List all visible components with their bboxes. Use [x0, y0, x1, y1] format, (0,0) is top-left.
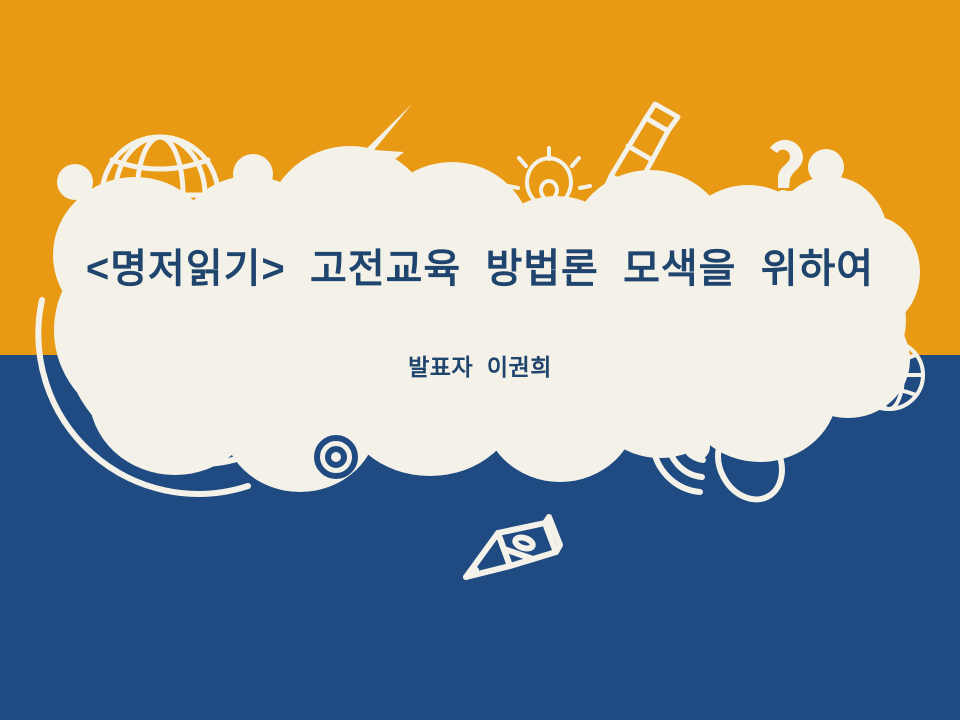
- title-slide: <명저읽기> 고전교육 방법론 모색을 위하여 발표자 이권희: [0, 0, 960, 720]
- speech-cloud-banner: [53, 146, 920, 492]
- slide-artwork: [0, 0, 960, 720]
